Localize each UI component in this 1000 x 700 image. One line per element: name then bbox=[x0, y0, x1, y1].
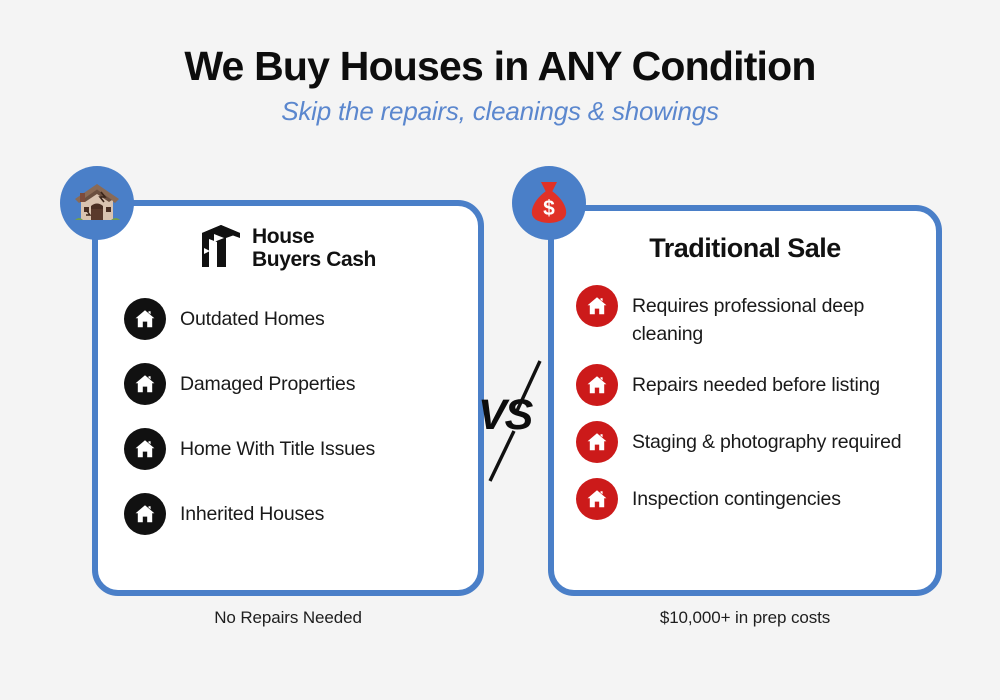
list-item-label: Staging & photography required bbox=[632, 421, 901, 457]
svg-text:$: $ bbox=[543, 197, 555, 220]
list-item-label: Requires professional deep cleaning bbox=[632, 285, 918, 349]
brand-logo-text: House Buyers Cash bbox=[252, 226, 376, 271]
money-bag-badge: $ bbox=[512, 166, 586, 240]
left-feature-list: Outdated Homes Damaged Properties Home W… bbox=[124, 298, 462, 558]
house-icon bbox=[124, 428, 166, 470]
brand-logo-line1: House bbox=[252, 225, 314, 248]
house-icon bbox=[576, 421, 618, 463]
house-icon bbox=[124, 493, 166, 535]
traditional-sale-heading: Traditional Sale bbox=[554, 233, 936, 264]
list-item: Damaged Properties bbox=[124, 363, 462, 405]
list-item-label: Home With Title Issues bbox=[180, 428, 375, 464]
list-item-label: Damaged Properties bbox=[180, 363, 355, 399]
left-card-footer: No Repairs Needed bbox=[92, 608, 484, 628]
house-icon bbox=[576, 285, 618, 327]
versus-divider: VS bbox=[470, 355, 562, 485]
list-item: Home With Title Issues bbox=[124, 428, 462, 470]
right-feature-list: Requires professional deep cleaning Repa… bbox=[576, 285, 918, 535]
page-subtitle: Skip the repairs, cleanings & showings bbox=[0, 96, 1000, 127]
list-item: Repairs needed before listing bbox=[576, 364, 918, 406]
right-card-footer: $10,000+ in prep costs bbox=[548, 608, 942, 628]
house-icon bbox=[124, 363, 166, 405]
brand-logo-line2: Buyers Cash bbox=[252, 248, 376, 271]
house-icon bbox=[576, 478, 618, 520]
versus-label: VS bbox=[478, 391, 531, 440]
traditional-sale-card: Traditional Sale Requires professional d… bbox=[548, 205, 942, 596]
list-item-label: Inherited Houses bbox=[180, 493, 324, 529]
brand-logo: House Buyers Cash bbox=[98, 224, 478, 273]
list-item-label: Inspection contingencies bbox=[632, 478, 841, 514]
house-buyers-cash-card: House Buyers Cash Outdated Homes bbox=[92, 200, 484, 596]
house-cube-logo-icon bbox=[200, 224, 242, 273]
list-item: Requires professional deep cleaning bbox=[576, 285, 918, 349]
house-icon bbox=[576, 364, 618, 406]
damaged-house-badge bbox=[60, 166, 134, 240]
house-icon bbox=[124, 298, 166, 340]
damaged-house-icon bbox=[71, 180, 123, 226]
page-title: We Buy Houses in ANY Condition bbox=[0, 44, 1000, 89]
money-bag-icon: $ bbox=[524, 178, 574, 228]
list-item-label: Outdated Homes bbox=[180, 298, 325, 334]
list-item: Staging & photography required bbox=[576, 421, 918, 463]
list-item: Inherited Houses bbox=[124, 493, 462, 535]
list-item: Inspection contingencies bbox=[576, 478, 918, 520]
list-item-label: Repairs needed before listing bbox=[632, 364, 880, 400]
list-item: Outdated Homes bbox=[124, 298, 462, 340]
infographic-canvas: We Buy Houses in ANY Condition Skip the … bbox=[0, 0, 1000, 700]
